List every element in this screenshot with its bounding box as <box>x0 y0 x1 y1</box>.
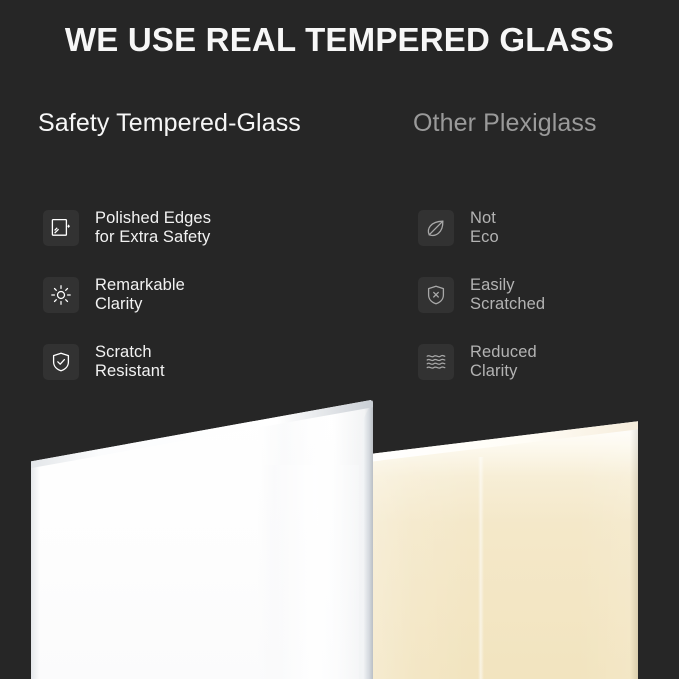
feature-label: Not Eco <box>470 209 499 247</box>
tempered-glass-panel-right-edge <box>358 400 373 679</box>
tempered-glass-panel-sheen <box>262 465 359 679</box>
feature-line1: Not <box>470 209 499 228</box>
feature-list-plexiglass: Not Eco Easily Scratched <box>418 210 679 411</box>
feature-not-eco: Not Eco <box>418 210 679 246</box>
feature-label: Easily Scratched <box>470 276 545 314</box>
feature-polished-edges: Polished Edges for Extra Safety <box>43 210 373 246</box>
feature-line1: Reduced <box>470 343 537 362</box>
column-title-tempered-glass: Safety Tempered-Glass <box>38 108 368 139</box>
shield-x-icon <box>418 277 454 313</box>
feature-line2: Clarity <box>95 295 185 314</box>
page-title: WE USE REAL TEMPERED GLASS <box>0 20 679 60</box>
column-tempered-glass: Safety Tempered-Glass Polished Edges for… <box>38 108 368 139</box>
feature-list-tempered-glass: Polished Edges for Extra Safety <box>43 210 373 411</box>
feature-line1: Polished Edges <box>95 209 211 228</box>
column-title-line2: Plexiglass <box>483 109 597 137</box>
leaf-crossed-out-icon <box>418 210 454 246</box>
feature-line2: for Extra Safety <box>95 228 211 247</box>
feature-label: Remarkable Clarity <box>95 276 185 314</box>
feature-line2: Eco <box>470 228 499 247</box>
polished-edge-icon <box>43 210 79 246</box>
wavy-lines-icon <box>418 344 454 380</box>
feature-label: Scratch Resistant <box>95 343 165 381</box>
feature-line1: Scratch <box>95 343 165 362</box>
feature-easily-scratched: Easily Scratched <box>418 277 679 313</box>
feature-line2: Scratched <box>470 295 545 314</box>
feature-line1: Remarkable <box>95 276 185 295</box>
feature-remarkable-clarity: Remarkable Clarity <box>43 277 373 313</box>
shield-check-icon <box>43 344 79 380</box>
feature-line2: Resistant <box>95 362 165 381</box>
column-title-line1: Safety <box>38 109 109 137</box>
feature-reduced-clarity: Reduced Clarity <box>418 344 679 380</box>
feature-line2: Clarity <box>470 362 537 381</box>
column-title-plexiglass: Other Plexiglass <box>413 108 679 139</box>
feature-label: Reduced Clarity <box>470 343 537 381</box>
plexiglass-panel <box>362 420 638 679</box>
plexiglass-panel-sheen <box>478 457 484 679</box>
column-plexiglass: Other Plexiglass Not Eco <box>413 108 679 139</box>
feature-label: Polished Edges for Extra Safety <box>95 209 211 247</box>
feature-scratch-resistant: Scratch Resistant <box>43 344 373 380</box>
sun-brightness-icon <box>43 277 79 313</box>
product-comparison-photo <box>0 395 679 679</box>
column-title-line2: Tempered-Glass <box>116 109 301 137</box>
column-title-line1: Other <box>413 109 476 137</box>
feature-line1: Easily <box>470 276 545 295</box>
comparison-infographic: WE USE REAL TEMPERED GLASS Safety Temper… <box>0 0 679 679</box>
